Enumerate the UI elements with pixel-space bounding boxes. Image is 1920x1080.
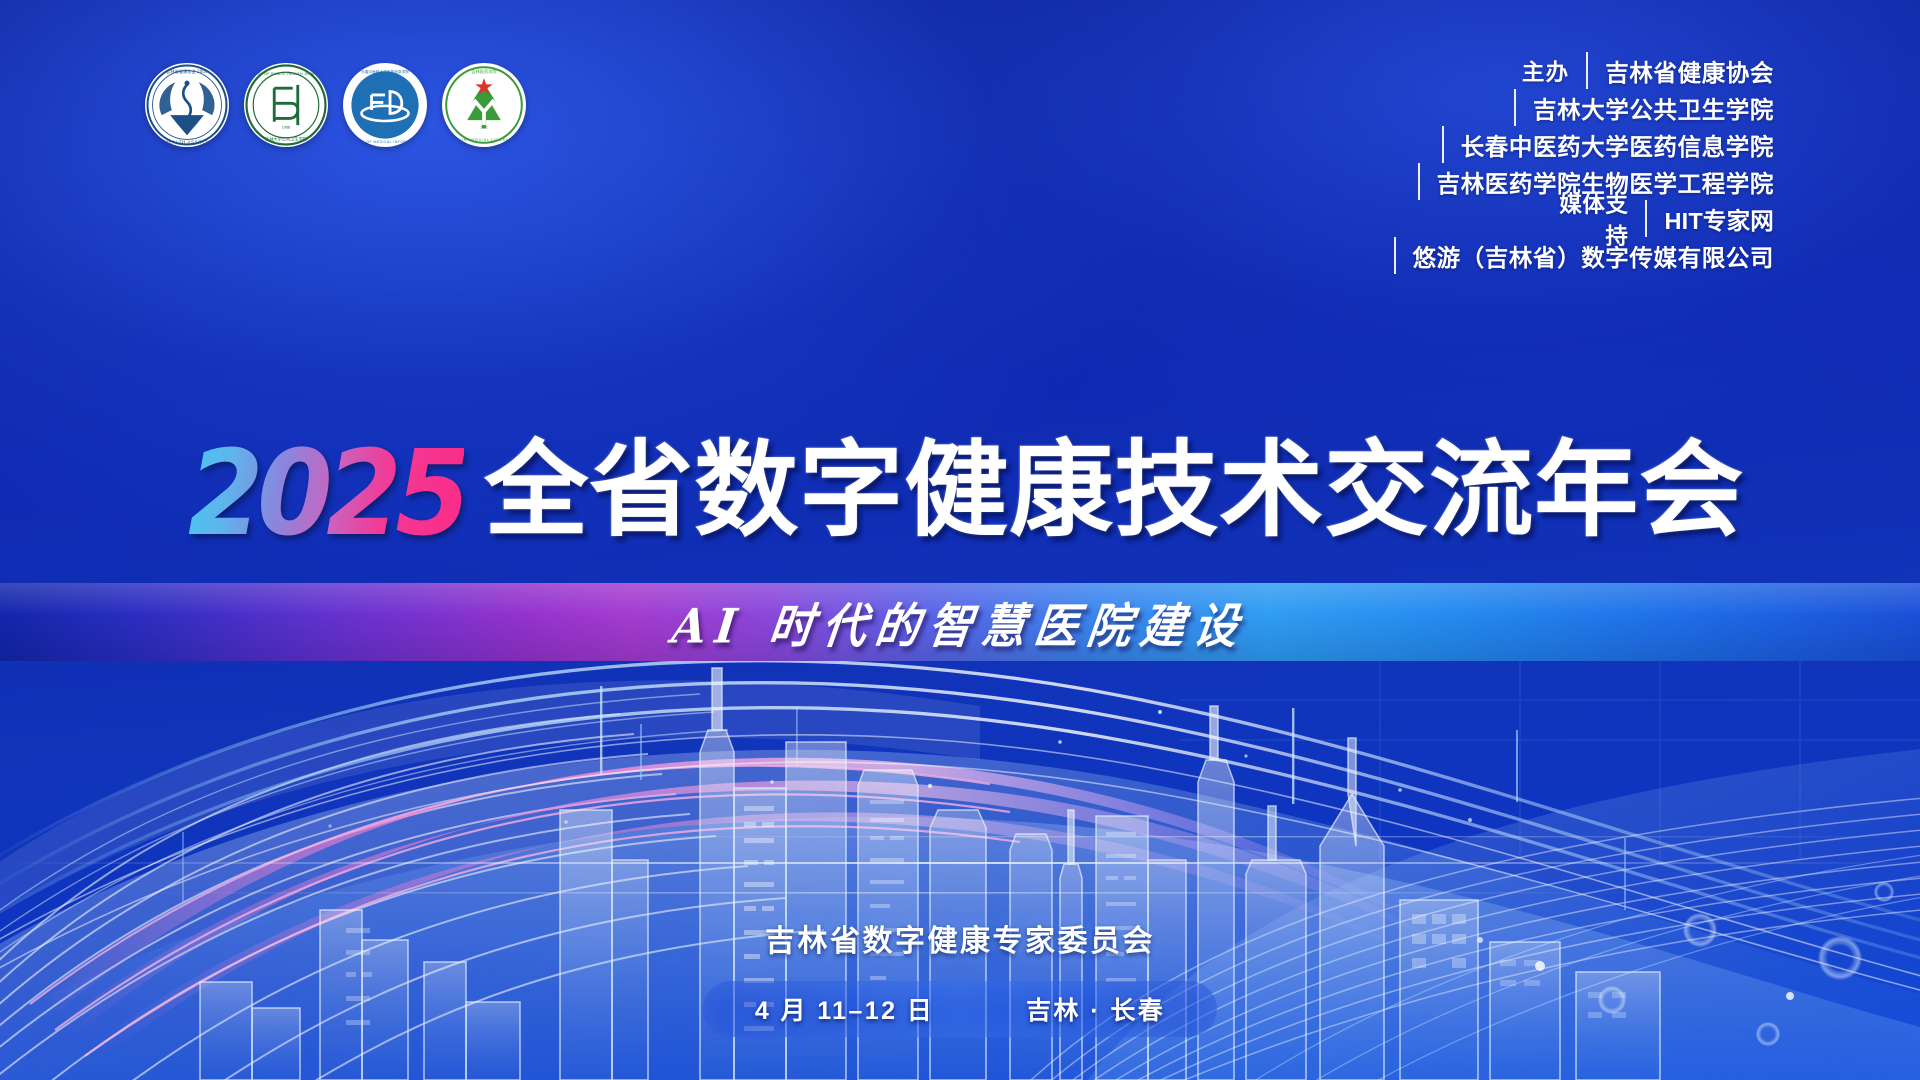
organizer-value: 长春中医药大学医药信息学院 (1444, 128, 1774, 162)
logo-jilin-medical-college: 吉林医药学院 1952 JILIN MEDICAL COLLEGE (442, 63, 526, 147)
svg-text:1952: 1952 (480, 126, 488, 130)
organizer-line: 长春中医药大学医药信息学院 (1334, 126, 1774, 163)
svg-text:SCHOOL OF MEDICAL INFORMATION: SCHOOL OF MEDICAL INFORMATION (348, 140, 423, 144)
organizer-value: HIT专家网 (1647, 202, 1774, 236)
date-location-pill: 4 月 11–12 日 吉林 · 长春 (703, 981, 1217, 1037)
organizer-logos: JILIN HEALTH ASSOCIATION 吉林省健康协会 2004 SC… (145, 63, 526, 147)
conference-banner: JILIN HEALTH ASSOCIATION 吉林省健康协会 2004 SC… (0, 0, 1920, 1080)
organizer-line: 主办 吉林省健康协会 (1478, 52, 1774, 89)
svg-text:JILIN HEALTH ASSOCIATION: JILIN HEALTH ASSOCIATION (149, 140, 224, 145)
svg-text:1958: 1958 (282, 126, 291, 130)
subtitle-text: AI 时代的智慧医院建设 (669, 587, 1252, 656)
svg-text:吉林省健康协会 2004: 吉林省健康协会 2004 (166, 68, 208, 75)
logo-jilin-health-association: JILIN HEALTH ASSOCIATION 吉林省健康协会 2004 (145, 63, 229, 147)
organizer-value: 悠游（吉林省）数字传媒有限公司 (1396, 239, 1775, 273)
svg-text:吉林医药学院: 吉林医药学院 (471, 68, 497, 75)
title-text: 全省数字健康技术交流年会 (484, 439, 1744, 543)
svg-text:吉林大学公共卫生学院: 吉林大学公共卫生学院 (265, 135, 308, 142)
logo-school-of-public-health-jilin-university: SCHOOL OF PUBLIC HEALTH JILIN UNIV. 1958… (244, 63, 328, 147)
subtitle-band: AI 时代的智慧医院建设 (0, 583, 1920, 661)
organizer-line: 媒体支持 HIT专家网 (1537, 200, 1774, 237)
title-year: 2025 (188, 434, 464, 552)
svg-text:JILIN MEDICAL COLLEGE: JILIN MEDICAL COLLEGE (456, 138, 513, 142)
organizer-line: 悠游（吉林省）数字传媒有限公司 (1286, 237, 1775, 274)
logo-school-of-medical-information: 长春中医药大学医药信息学院 SCHOOL OF MEDICAL INFORMAT… (343, 63, 427, 147)
organizer-line: 吉林大学公共卫生学院 (1406, 89, 1774, 126)
event-location: 吉林 · 长春 (1026, 991, 1165, 1027)
organizer-value: 吉林大学公共卫生学院 (1516, 91, 1774, 125)
organizer-label-host: 主办 (1478, 55, 1586, 87)
svg-text:长春中医药大学医药信息学院: 长春中医药大学医药信息学院 (361, 69, 409, 74)
organizer-value: 吉林省健康协会 (1588, 54, 1774, 88)
main-title: 2025全省数字健康技术交流年会 (0, 434, 1920, 552)
svg-text:SCHOOL OF PUBLIC HEALTH JILIN: SCHOOL OF PUBLIC HEALTH JILIN UNIV. (246, 72, 326, 76)
event-date: 4 月 11–12 日 (755, 991, 934, 1027)
organizer-credits: 主办 吉林省健康协会 吉林大学公共卫生学院 长春中医药大学医药信息学院 吉林医药… (1286, 52, 1775, 274)
committee-name: 吉林省数字健康专家委员会 (0, 916, 1920, 960)
